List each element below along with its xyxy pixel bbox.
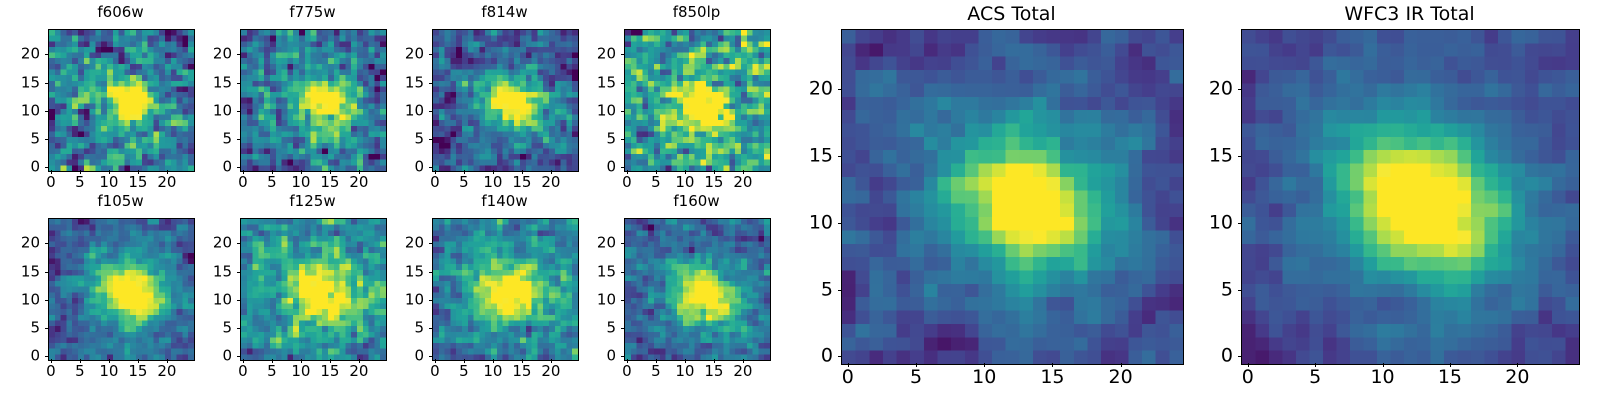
ytick-label-f850lp-20: 20 (554, 47, 616, 62)
ytick-label-f850lp-10: 10 (554, 103, 616, 118)
ytick-mark-f850lp-10 (621, 111, 625, 112)
ytick-mark-f125w-10 (237, 300, 241, 301)
xtick-label-f850lp-20: 20 (733, 175, 752, 190)
xtick-label-wfc3-ir-total-10: 10 (1370, 368, 1394, 387)
xtick-mark-f606w-5 (80, 170, 81, 174)
ytick-label-f775w-5: 5 (170, 131, 232, 146)
ytick-label-f125w-20: 20 (170, 236, 232, 251)
ytick-mark-acs-total-5 (838, 290, 842, 291)
ytick-label-f160w-15: 15 (554, 264, 616, 279)
xtick-mark-f140w-20 (551, 359, 552, 363)
xtick-label-f850lp-10: 10 (675, 175, 694, 190)
ytick-mark-f814w-15 (429, 83, 433, 84)
ytick-mark-f105w-0 (45, 356, 49, 357)
xtick-mark-f105w-10 (109, 359, 110, 363)
panel-acs-total: ACS Total0510152005101520 (771, 3, 1192, 397)
xtick-mark-f105w-5 (80, 359, 81, 363)
ytick-mark-f814w-0 (429, 167, 433, 168)
xtick-mark-f606w-0 (51, 170, 52, 174)
ytick-mark-f606w-10 (45, 111, 49, 112)
xtick-mark-f850lp-5 (656, 170, 657, 174)
ytick-mark-f160w-10 (621, 300, 625, 301)
ytick-mark-f160w-5 (621, 328, 625, 329)
panel-title-acs-total: ACS Total (841, 5, 1182, 24)
ytick-label-f105w-0: 0 (0, 349, 40, 364)
xtick-label-f160w-15: 15 (704, 364, 723, 379)
ytick-label-f814w-15: 15 (362, 75, 424, 90)
ytick-label-f160w-5: 5 (554, 320, 616, 335)
xtick-mark-f775w-5 (272, 170, 273, 174)
ytick-label-f775w-0: 0 (170, 160, 232, 175)
ytick-label-f814w-20: 20 (362, 47, 424, 62)
xtick-mark-f775w-10 (301, 170, 302, 174)
ytick-label-acs-total-0: 0 (771, 347, 833, 366)
ytick-label-f105w-15: 15 (0, 264, 40, 279)
ytick-mark-f814w-20 (429, 54, 433, 55)
xtick-label-acs-total-5: 5 (910, 368, 922, 387)
xtick-label-f140w-15: 15 (512, 364, 531, 379)
xtick-mark-wfc3-ir-total-15 (1450, 363, 1451, 367)
xtick-mark-f160w-20 (743, 359, 744, 363)
ytick-label-f105w-10: 10 (0, 292, 40, 307)
ytick-mark-f850lp-15 (621, 83, 625, 84)
xtick-label-f814w-15: 15 (512, 175, 531, 190)
ytick-label-acs-total-20: 20 (771, 80, 833, 99)
ytick-mark-f140w-20 (429, 243, 433, 244)
ytick-mark-wfc3-ir-total-15 (1238, 156, 1242, 157)
xtick-mark-f814w-5 (464, 170, 465, 174)
ytick-label-f775w-10: 10 (170, 103, 232, 118)
ytick-mark-f850lp-5 (621, 139, 625, 140)
panel-title-f850lp: f850lp (624, 5, 769, 20)
figure-canvas: f606w0510152005101520f775w05101520051015… (0, 0, 1600, 400)
ytick-mark-acs-total-20 (838, 89, 842, 90)
ytick-label-f606w-0: 0 (0, 160, 40, 175)
xtick-label-f140w-0: 0 (430, 364, 440, 379)
ytick-mark-acs-total-10 (838, 223, 842, 224)
ytick-label-wfc3-ir-total-15: 15 (1171, 146, 1233, 165)
ytick-mark-f775w-0 (237, 167, 241, 168)
ytick-label-f105w-20: 20 (0, 236, 40, 251)
ytick-label-wfc3-ir-total-10: 10 (1171, 213, 1233, 232)
xtick-mark-f606w-10 (109, 170, 110, 174)
plot-area-acs-total (841, 29, 1184, 365)
xtick-mark-f105w-0 (51, 359, 52, 363)
xtick-label-f606w-0: 0 (46, 175, 56, 190)
ytick-mark-f814w-10 (429, 111, 433, 112)
xtick-label-f814w-5: 5 (459, 175, 469, 190)
xtick-label-f105w-10: 10 (99, 364, 118, 379)
xtick-mark-f140w-15 (522, 359, 523, 363)
ytick-label-f814w-0: 0 (362, 160, 424, 175)
xtick-mark-f140w-10 (493, 359, 494, 363)
ytick-label-f140w-0: 0 (362, 349, 424, 364)
xtick-mark-f606w-20 (167, 170, 168, 174)
xtick-label-f105w-5: 5 (75, 364, 85, 379)
ytick-mark-f105w-20 (45, 243, 49, 244)
ytick-mark-acs-total-0 (838, 356, 842, 357)
xtick-mark-f606w-15 (138, 170, 139, 174)
xtick-label-f140w-10: 10 (483, 364, 502, 379)
ytick-label-f850lp-5: 5 (554, 131, 616, 146)
ytick-label-f125w-10: 10 (170, 292, 232, 307)
xtick-label-f160w-5: 5 (651, 364, 661, 379)
xtick-label-f606w-5: 5 (75, 175, 85, 190)
xtick-mark-f850lp-10 (685, 170, 686, 174)
ytick-mark-f775w-10 (237, 111, 241, 112)
xtick-mark-acs-total-20 (1121, 363, 1122, 367)
ytick-label-f814w-5: 5 (362, 131, 424, 146)
ytick-label-acs-total-5: 5 (771, 280, 833, 299)
ytick-mark-f105w-5 (45, 328, 49, 329)
xtick-mark-f160w-10 (685, 359, 686, 363)
ytick-mark-f140w-0 (429, 356, 433, 357)
xtick-mark-f814w-20 (551, 170, 552, 174)
xtick-label-acs-total-15: 15 (1040, 368, 1064, 387)
xtick-label-f814w-10: 10 (483, 175, 502, 190)
ytick-label-f140w-10: 10 (362, 292, 424, 307)
xtick-label-f160w-20: 20 (733, 364, 752, 379)
ytick-label-f606w-20: 20 (0, 47, 40, 62)
panel-wfc3-ir-total: WFC3 IR Total0510152005101520 (1171, 3, 1588, 397)
xtick-mark-f775w-0 (243, 170, 244, 174)
ytick-label-f160w-0: 0 (554, 349, 616, 364)
xtick-mark-f160w-15 (714, 359, 715, 363)
ytick-mark-f125w-15 (237, 272, 241, 273)
ytick-label-f850lp-15: 15 (554, 75, 616, 90)
xtick-mark-f160w-0 (627, 359, 628, 363)
ytick-mark-f125w-20 (237, 243, 241, 244)
xtick-mark-f125w-20 (359, 359, 360, 363)
ytick-label-f850lp-0: 0 (554, 160, 616, 175)
ytick-mark-f814w-5 (429, 139, 433, 140)
xtick-label-f775w-5: 5 (267, 175, 277, 190)
ytick-label-acs-total-10: 10 (771, 213, 833, 232)
xtick-label-acs-total-20: 20 (1109, 368, 1133, 387)
ytick-mark-f775w-20 (237, 54, 241, 55)
ytick-label-f775w-20: 20 (170, 47, 232, 62)
xtick-mark-f125w-10 (301, 359, 302, 363)
ytick-label-f606w-5: 5 (0, 131, 40, 146)
xtick-label-wfc3-ir-total-20: 20 (1505, 368, 1529, 387)
heatmap-acs-total (842, 30, 1183, 364)
ytick-label-wfc3-ir-total-5: 5 (1171, 280, 1233, 299)
ytick-label-wfc3-ir-total-0: 0 (1171, 347, 1233, 366)
ytick-mark-f160w-20 (621, 243, 625, 244)
xtick-mark-f850lp-0 (627, 170, 628, 174)
xtick-mark-f125w-15 (330, 359, 331, 363)
ytick-mark-wfc3-ir-total-10 (1238, 223, 1242, 224)
xtick-mark-f814w-10 (493, 170, 494, 174)
xtick-label-f775w-0: 0 (238, 175, 248, 190)
ytick-label-f606w-10: 10 (0, 103, 40, 118)
xtick-mark-f814w-15 (522, 170, 523, 174)
xtick-label-f775w-15: 15 (320, 175, 339, 190)
ytick-label-f160w-20: 20 (554, 236, 616, 251)
xtick-label-f606w-10: 10 (99, 175, 118, 190)
xtick-label-f125w-10: 10 (291, 364, 310, 379)
xtick-label-f814w-0: 0 (430, 175, 440, 190)
xtick-mark-f775w-20 (359, 170, 360, 174)
xtick-label-acs-total-0: 0 (842, 368, 854, 387)
heatmap-f850lp (625, 30, 770, 171)
xtick-mark-f140w-5 (464, 359, 465, 363)
ytick-label-wfc3-ir-total-20: 20 (1171, 80, 1233, 99)
ytick-label-f105w-5: 5 (0, 320, 40, 335)
ytick-label-f125w-5: 5 (170, 320, 232, 335)
ytick-mark-wfc3-ir-total-5 (1238, 290, 1242, 291)
xtick-mark-wfc3-ir-total-5 (1315, 363, 1316, 367)
xtick-mark-f125w-0 (243, 359, 244, 363)
xtick-mark-acs-total-15 (1052, 363, 1053, 367)
xtick-mark-wfc3-ir-total-0 (1248, 363, 1249, 367)
xtick-label-wfc3-ir-total-0: 0 (1242, 368, 1254, 387)
ytick-mark-f606w-0 (45, 167, 49, 168)
xtick-mark-acs-total-5 (916, 363, 917, 367)
xtick-label-f606w-15: 15 (128, 175, 147, 190)
plot-area-wfc3-ir-total (1241, 29, 1580, 365)
xtick-mark-f850lp-15 (714, 170, 715, 174)
ytick-mark-f140w-5 (429, 328, 433, 329)
xtick-label-f140w-5: 5 (459, 364, 469, 379)
xtick-label-wfc3-ir-total-15: 15 (1438, 368, 1462, 387)
ytick-label-f125w-15: 15 (170, 264, 232, 279)
ytick-mark-f125w-0 (237, 356, 241, 357)
ytick-label-f140w-15: 15 (362, 264, 424, 279)
xtick-label-f125w-15: 15 (320, 364, 339, 379)
ytick-label-f125w-0: 0 (170, 349, 232, 364)
xtick-label-f775w-10: 10 (291, 175, 310, 190)
xtick-mark-f105w-20 (167, 359, 168, 363)
ytick-mark-f160w-0 (621, 356, 625, 357)
panel-title-wfc3-ir-total: WFC3 IR Total (1241, 5, 1578, 24)
xtick-mark-acs-total-10 (984, 363, 985, 367)
xtick-mark-f140w-0 (435, 359, 436, 363)
xtick-label-acs-total-10: 10 (972, 368, 996, 387)
ytick-mark-f606w-5 (45, 139, 49, 140)
xtick-label-f105w-15: 15 (128, 364, 147, 379)
ytick-mark-f105w-15 (45, 272, 49, 273)
xtick-mark-f125w-5 (272, 359, 273, 363)
ytick-label-f606w-15: 15 (0, 75, 40, 90)
ytick-mark-f775w-15 (237, 83, 241, 84)
heatmap-f160w (625, 219, 770, 360)
ytick-mark-acs-total-15 (838, 156, 842, 157)
ytick-label-f775w-15: 15 (170, 75, 232, 90)
ytick-mark-f775w-5 (237, 139, 241, 140)
xtick-label-wfc3-ir-total-5: 5 (1309, 368, 1321, 387)
xtick-mark-f775w-15 (330, 170, 331, 174)
ytick-label-f160w-10: 10 (554, 292, 616, 307)
xtick-label-f850lp-15: 15 (704, 175, 723, 190)
xtick-label-f105w-0: 0 (46, 364, 56, 379)
ytick-label-f140w-20: 20 (362, 236, 424, 251)
ytick-mark-f105w-10 (45, 300, 49, 301)
ytick-mark-f140w-15 (429, 272, 433, 273)
xtick-mark-acs-total-0 (848, 363, 849, 367)
panel-title-f160w: f160w (624, 194, 769, 209)
heatmap-wfc3-ir-total (1242, 30, 1579, 364)
panel-f850lp: f850lp0510152005101520 (554, 3, 779, 204)
ytick-mark-f140w-10 (429, 300, 433, 301)
ytick-mark-f606w-20 (45, 54, 49, 55)
xtick-label-f125w-5: 5 (267, 364, 277, 379)
ytick-mark-f850lp-20 (621, 54, 625, 55)
xtick-mark-f105w-15 (138, 359, 139, 363)
xtick-label-f850lp-0: 0 (622, 175, 632, 190)
xtick-mark-f850lp-20 (743, 170, 744, 174)
ytick-label-acs-total-15: 15 (771, 146, 833, 165)
plot-area-f850lp (624, 29, 771, 172)
xtick-label-f160w-10: 10 (675, 364, 694, 379)
ytick-mark-f850lp-0 (621, 167, 625, 168)
xtick-label-f160w-0: 0 (622, 364, 632, 379)
xtick-mark-f160w-5 (656, 359, 657, 363)
panel-f160w: f160w0510152005101520 (554, 192, 779, 393)
xtick-mark-wfc3-ir-total-10 (1383, 363, 1384, 367)
ytick-mark-f160w-15 (621, 272, 625, 273)
ytick-mark-f606w-15 (45, 83, 49, 84)
xtick-label-f125w-0: 0 (238, 364, 248, 379)
ytick-label-f814w-10: 10 (362, 103, 424, 118)
ytick-label-f140w-5: 5 (362, 320, 424, 335)
plot-area-f160w (624, 218, 771, 361)
ytick-mark-wfc3-ir-total-20 (1238, 89, 1242, 90)
xtick-mark-wfc3-ir-total-20 (1517, 363, 1518, 367)
xtick-label-f850lp-5: 5 (651, 175, 661, 190)
ytick-mark-wfc3-ir-total-0 (1238, 356, 1242, 357)
xtick-mark-f814w-0 (435, 170, 436, 174)
ytick-mark-f125w-5 (237, 328, 241, 329)
